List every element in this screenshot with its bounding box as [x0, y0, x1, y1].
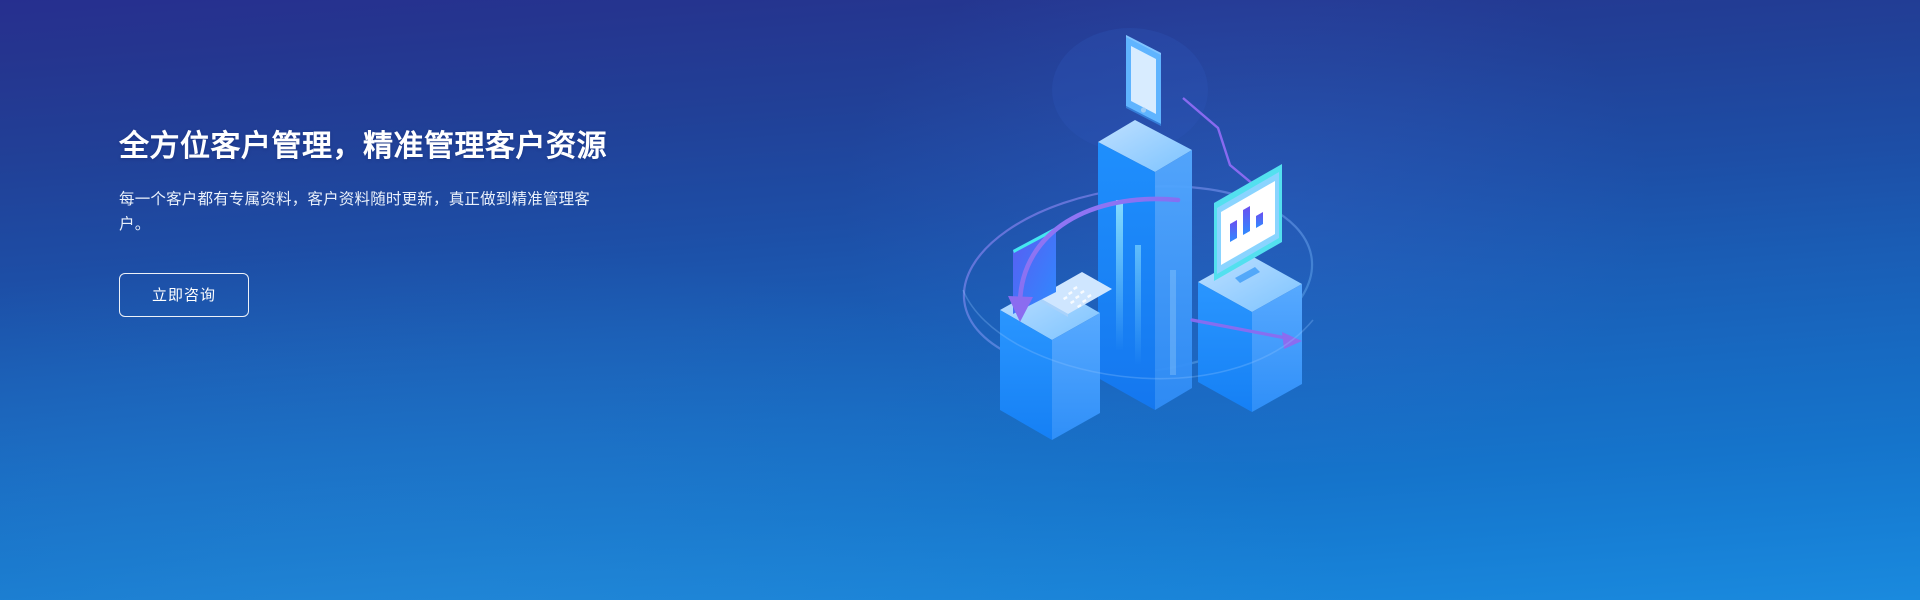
illustration-svg	[930, 20, 1400, 490]
page-title: 全方位客户管理，精准管理客户资源	[119, 128, 759, 166]
hero-subtitle: 每一个客户都有专属资料，客户资料随时更新，真正做到精准管理客户。	[119, 187, 601, 237]
right-pedestal	[1198, 254, 1302, 412]
hero-banner: 全方位客户管理，精准管理客户资源 每一个客户都有专属资料，客户资料随时更新，真正…	[0, 0, 1920, 600]
hero-illustration	[930, 20, 1400, 490]
consult-now-button[interactable]: 立即咨询	[119, 273, 249, 317]
hero-copy-block: 全方位客户管理，精准管理客户资源 每一个客户都有专属资料，客户资料随时更新，真正…	[119, 128, 759, 317]
center-pedestal	[1098, 120, 1192, 410]
